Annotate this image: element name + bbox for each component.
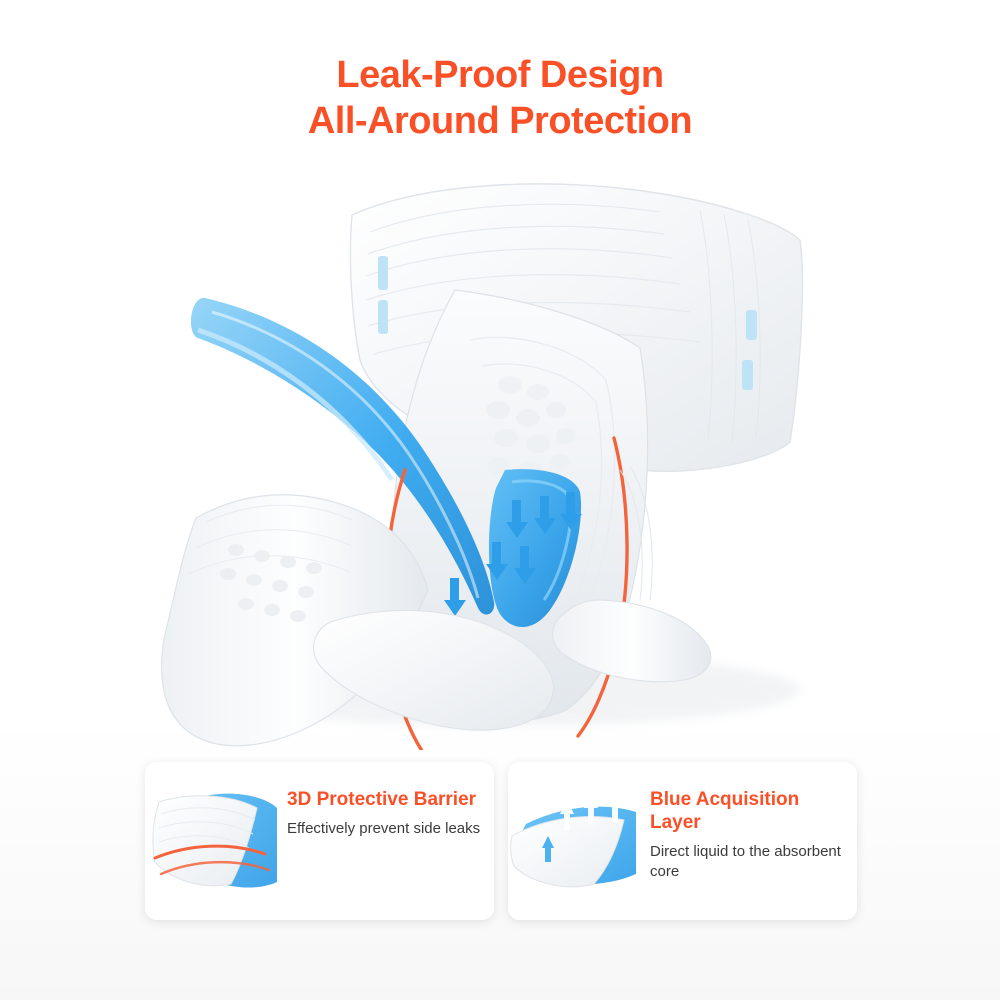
card-title: Blue Acquisition Layer xyxy=(650,788,845,834)
feature-card-3d-protective-barrier: 3D Protective Barrier Effectively preven… xyxy=(145,762,494,920)
tape-tab xyxy=(742,360,753,390)
card-text-block: Blue Acquisition Layer Direct liquid to … xyxy=(640,762,857,920)
hero-product-image xyxy=(0,170,1000,750)
headline-line-1: Leak-Proof Design xyxy=(0,52,1000,98)
tape-tab xyxy=(378,256,388,290)
card-description: Direct liquid to the absorbent core xyxy=(650,842,845,882)
product-illustration xyxy=(0,170,1000,750)
blue-acquisition-layer-thumbnail xyxy=(508,762,640,920)
card-title: 3D Protective Barrier xyxy=(287,788,482,811)
product-feature-page: Leak-Proof Design All-Around Protection xyxy=(0,0,1000,1000)
page-title: Leak-Proof Design All-Around Protection xyxy=(0,52,1000,144)
feature-card-blue-acquisition-layer: Blue Acquisition Layer Direct liquid to … xyxy=(508,762,857,920)
headline-line-2: All-Around Protection xyxy=(0,98,1000,144)
card-description: Effectively prevent side leaks xyxy=(287,819,482,839)
3d-protective-barrier-thumbnail xyxy=(145,762,277,920)
feature-cards: 3D Protective Barrier Effectively preven… xyxy=(145,762,857,920)
card-text-block: 3D Protective Barrier Effectively preven… xyxy=(277,762,494,920)
tape-tab xyxy=(378,300,388,334)
tape-tab xyxy=(746,310,757,340)
